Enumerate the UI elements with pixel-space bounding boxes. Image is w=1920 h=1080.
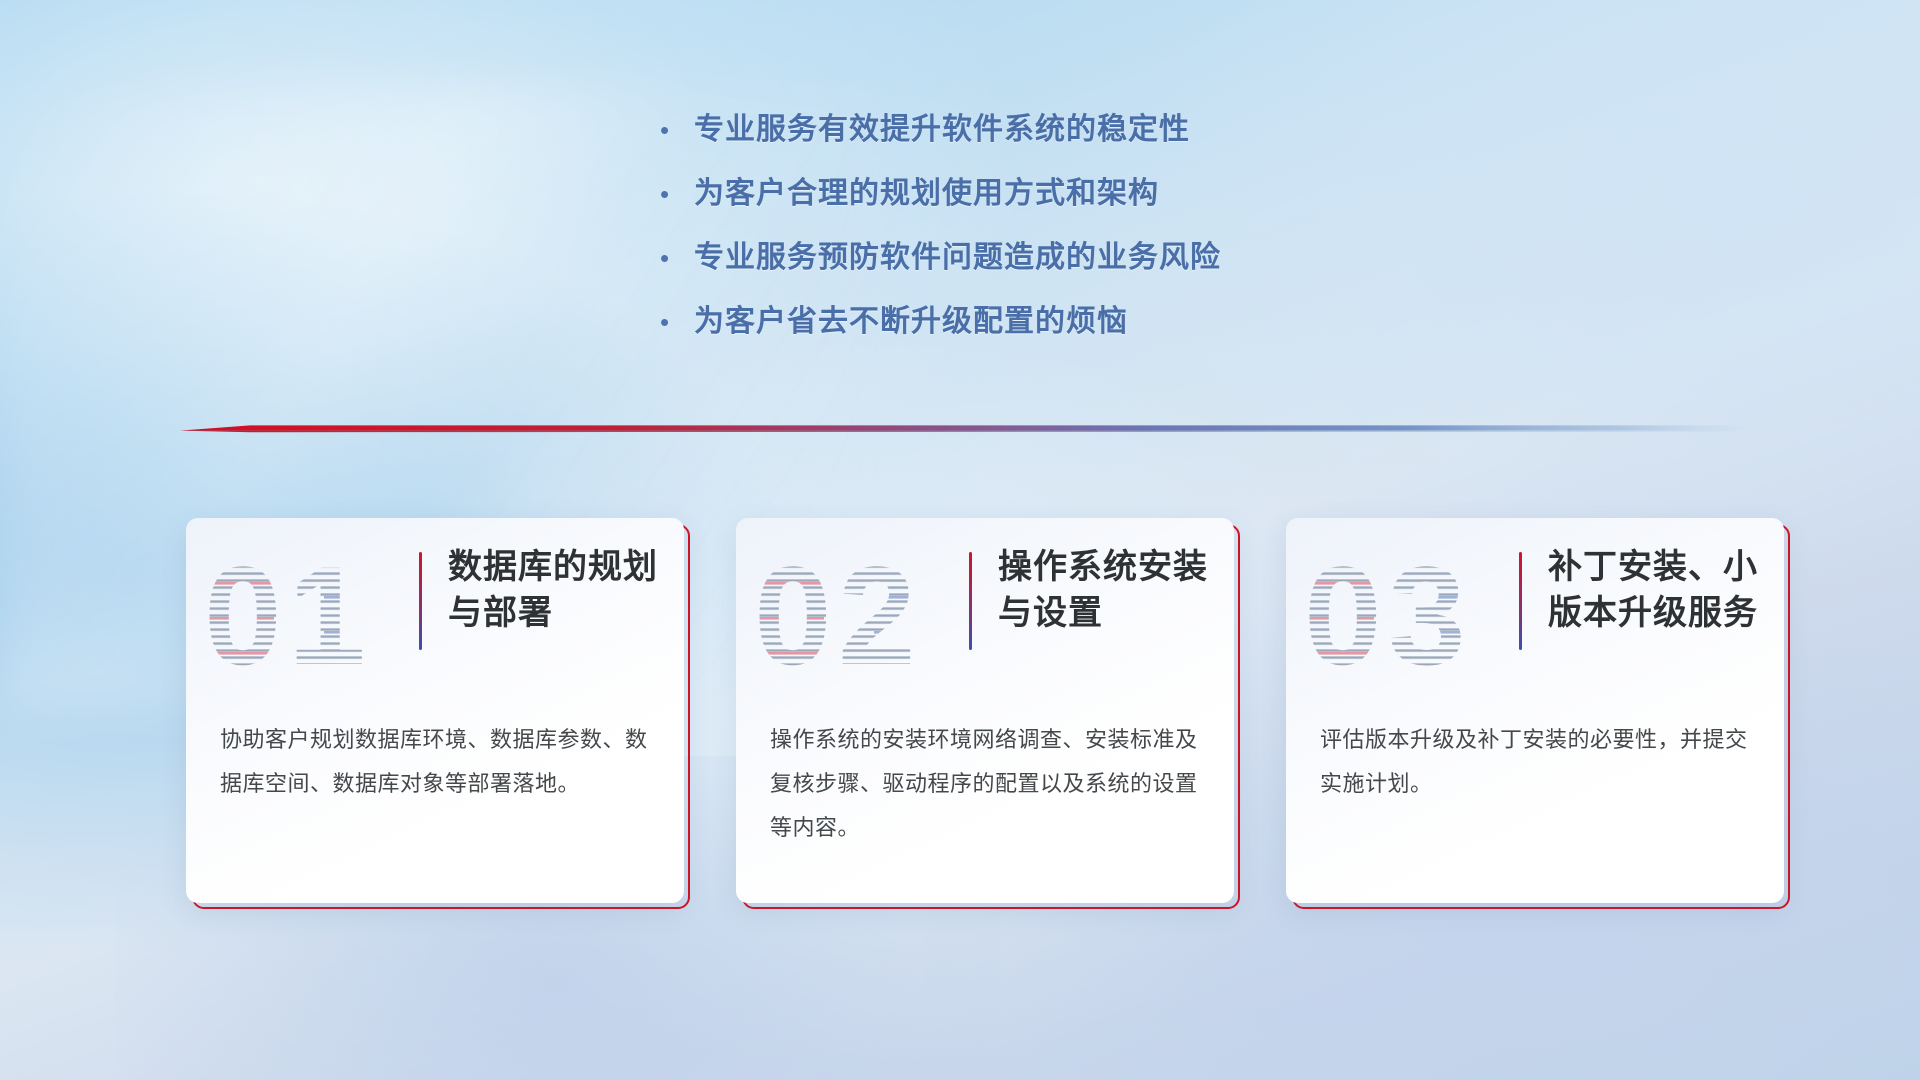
bullet-dot-icon: • [660, 174, 694, 214]
card-title: 补丁安装、小版本升级服务 [1522, 544, 1784, 636]
bullet-text: 为客户合理的规划使用方式和架构 [694, 174, 1159, 214]
striped-number-icon: 01 [204, 544, 419, 684]
divider-line-icon [180, 418, 1750, 438]
list-item: • 专业服务有效提升软件系统的稳定性 [660, 110, 1560, 174]
striped-number-icon: 03 [1304, 544, 1519, 684]
card-header: 02 操作系统安装与设置 [736, 544, 1234, 684]
card-number-watermark: 02 [754, 544, 969, 684]
card-header: 01 数据库的规划与部署 [186, 544, 684, 684]
bullet-text: 专业服务有效提升软件系统的稳定性 [694, 110, 1190, 150]
card-description: 评估版本升级及补丁安装的必要性，并提交实施计划。 [1320, 718, 1754, 806]
card-title: 操作系统安装与设置 [972, 544, 1234, 636]
card-header: 03 补丁安装、小版本升级服务 [1286, 544, 1784, 684]
section-divider [180, 418, 1750, 438]
card-title: 数据库的规划与部署 [422, 544, 684, 636]
card-description: 操作系统的安装环境网络调查、安装标准及复核步骤、驱动程序的配置以及系统的设置等内… [770, 718, 1204, 850]
card-number-watermark: 01 [204, 544, 419, 684]
benefits-bullet-list: • 专业服务有效提升软件系统的稳定性 • 为客户合理的规划使用方式和架构 • 专… [660, 110, 1560, 366]
bullet-dot-icon: • [660, 110, 694, 150]
card-surface: 03 补丁安装、小版本升级服务 评估版本升级及补丁安装的必要性，并提交实施计划。 [1286, 518, 1784, 903]
striped-number-icon: 02 [754, 544, 969, 684]
bullet-dot-icon: • [660, 302, 694, 342]
card-number-watermark: 03 [1304, 544, 1519, 684]
list-item: • 为客户省去不断升级配置的烦恼 [660, 302, 1560, 366]
card-description: 协助客户规划数据库环境、数据库参数、数据库空间、数据库对象等部署落地。 [220, 718, 654, 806]
list-item: • 专业服务预防软件问题造成的业务风险 [660, 238, 1560, 302]
service-card-grid: 01 数据库的规划与部署 协助客户规划数据库环境、数据库参数、数据库空间、数据库… [0, 518, 1920, 938]
card-surface: 02 操作系统安装与设置 操作系统的安装环境网络调查、安装标准及复核步骤、驱动程… [736, 518, 1234, 903]
bullet-text: 为客户省去不断升级配置的烦恼 [694, 302, 1128, 342]
bullet-dot-icon: • [660, 238, 694, 278]
bullet-text: 专业服务预防软件问题造成的业务风险 [694, 238, 1221, 278]
service-card-03[interactable]: 03 补丁安装、小版本升级服务 评估版本升级及补丁安装的必要性，并提交实施计划。 [1286, 518, 1784, 903]
service-card-01[interactable]: 01 数据库的规划与部署 协助客户规划数据库环境、数据库参数、数据库空间、数据库… [186, 518, 684, 903]
service-card-02[interactable]: 02 操作系统安装与设置 操作系统的安装环境网络调查、安装标准及复核步骤、驱动程… [736, 518, 1234, 903]
list-item: • 为客户合理的规划使用方式和架构 [660, 174, 1560, 238]
card-surface: 01 数据库的规划与部署 协助客户规划数据库环境、数据库参数、数据库空间、数据库… [186, 518, 684, 903]
